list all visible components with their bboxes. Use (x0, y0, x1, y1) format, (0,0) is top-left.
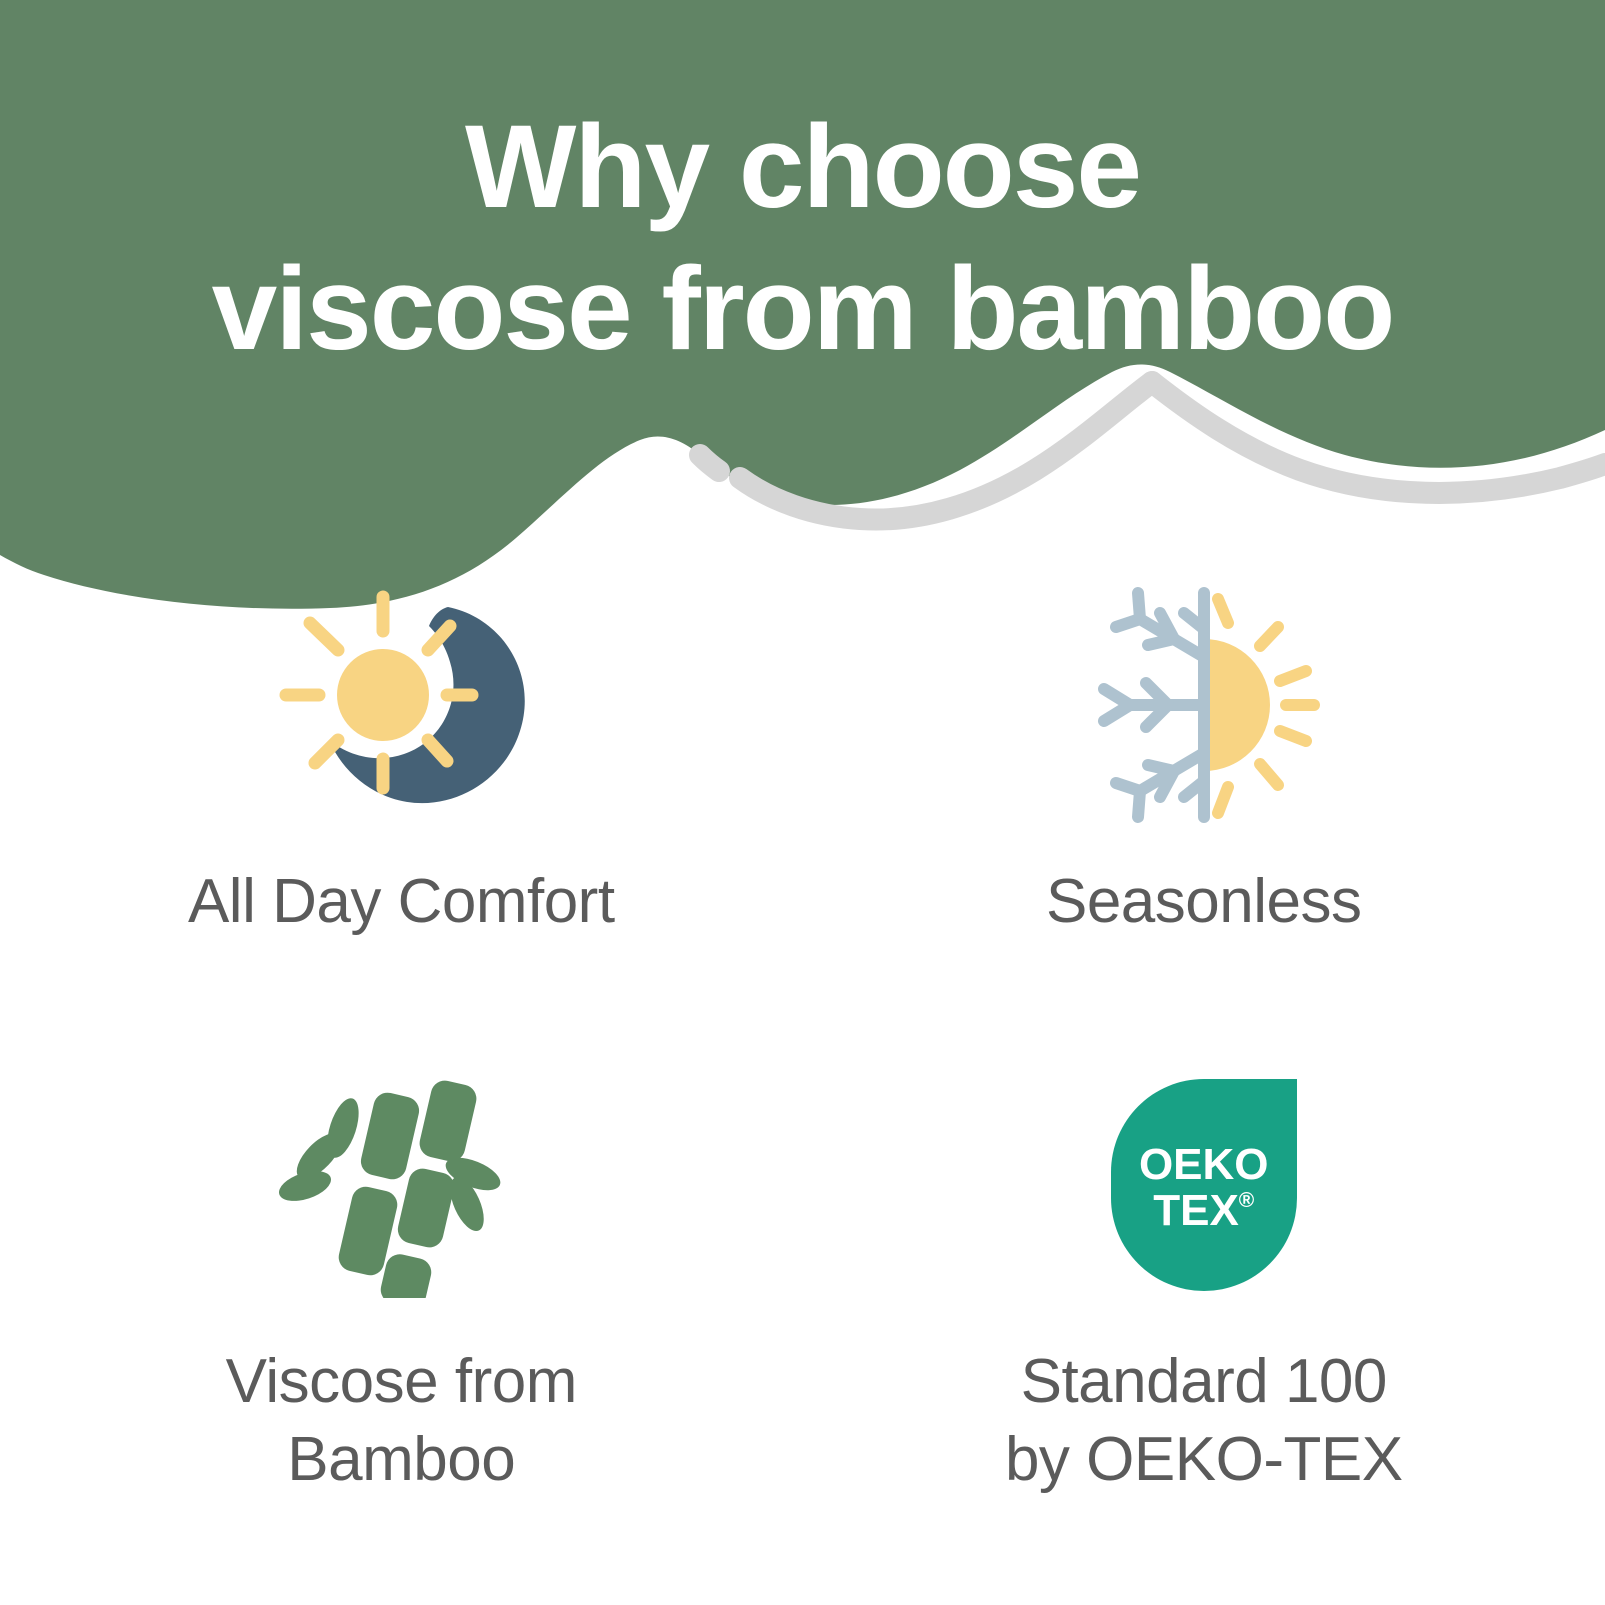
feature-label-line-1: Standard 100 (1005, 1343, 1403, 1421)
snowflake-arm-nw-tip-b (1138, 593, 1140, 619)
half-sun-disc (1204, 639, 1270, 771)
feature-icon-wrapper (270, 575, 532, 835)
oeko-tex-logo-icon: OEKO TEX ® (1111, 1079, 1297, 1291)
bamboo-segment-l1 (358, 1090, 422, 1182)
oeko-tex-line-1: OEKO (1139, 1142, 1269, 1188)
page-title: Why choose viscose from bamboo (0, 96, 1605, 380)
bamboo-segment-r1 (417, 1078, 479, 1164)
sun-ray-nne (1218, 599, 1228, 623)
snowflake-branch-sw-2 (1148, 765, 1174, 771)
bamboo-segment-r3 (378, 1251, 434, 1298)
feature-item-standard-100-oeko-tex: OEKO TEX ® Standard 100 by OEKO-TEX (803, 1055, 1605, 1535)
snowflake-branch-nw-2 (1148, 639, 1174, 645)
feature-icon-wrapper: OEKO TEX ® (1111, 1055, 1297, 1315)
sun-ray-ene (1280, 671, 1306, 681)
feature-item-all-day-comfort: All Day Comfort (0, 575, 803, 1055)
accent-curve-dash (700, 455, 719, 471)
bamboo-stalks-icon (275, 1072, 527, 1298)
snowflake-sun-icon (1082, 583, 1326, 827)
feature-label-line-2: by OEKO-TEX (1005, 1421, 1403, 1499)
feature-item-viscose-from-bamboo: Viscose from Bamboo (0, 1055, 803, 1535)
sun-ray-sw (315, 740, 338, 763)
sun-ray-se (1260, 764, 1278, 785)
feature-label-line-1: All Day Comfort (188, 863, 615, 941)
header-band: Why choose viscose from bamboo (0, 0, 1605, 640)
feature-label-viscose-from-bamboo: Viscose from Bamboo (226, 1343, 577, 1499)
registered-trademark-icon: ® (1239, 1190, 1254, 1211)
feature-label-all-day-comfort: All Day Comfort (188, 863, 615, 941)
infographic-root: Why choose viscose from bamboo (0, 0, 1605, 1605)
sun-ray-nw (310, 623, 338, 650)
snowflake-arm-w-tip-b (1104, 705, 1130, 721)
sun-ray-ne (1260, 627, 1278, 646)
feature-label-standard-100-oeko-tex: Standard 100 by OEKO-TEX (1005, 1343, 1403, 1499)
feature-label-line-1: Viscose from (226, 1343, 577, 1421)
feature-label-seasonless: Seasonless (1046, 863, 1362, 941)
sun-ray-sse (1218, 787, 1228, 813)
feature-grid: All Day Comfort (0, 575, 1605, 1605)
feature-item-seasonless: Seasonless (803, 575, 1605, 1055)
snowflake-arm-sw-tip-b (1138, 791, 1140, 817)
oeko-tex-line-2-wrapper: TEX ® (1153, 1188, 1254, 1234)
feature-label-line-1: Seasonless (1046, 863, 1362, 941)
feature-label-line-2: Bamboo (226, 1421, 577, 1499)
bamboo-segment-r2 (395, 1166, 457, 1250)
page-title-line-1: Why choose (0, 96, 1605, 238)
page-title-line-2: viscose from bamboo (0, 238, 1605, 380)
half-snowflake-group (1104, 593, 1204, 817)
sun-moon-icon (270, 585, 532, 825)
oeko-tex-wordmark: OEKO TEX ® (1111, 1079, 1297, 1291)
oeko-tex-line-2: TEX (1153, 1188, 1239, 1234)
feature-icon-wrapper (275, 1055, 527, 1315)
feature-icon-wrapper (1082, 575, 1326, 835)
sun-ray-ese (1280, 731, 1306, 741)
sun-disc (337, 649, 429, 741)
